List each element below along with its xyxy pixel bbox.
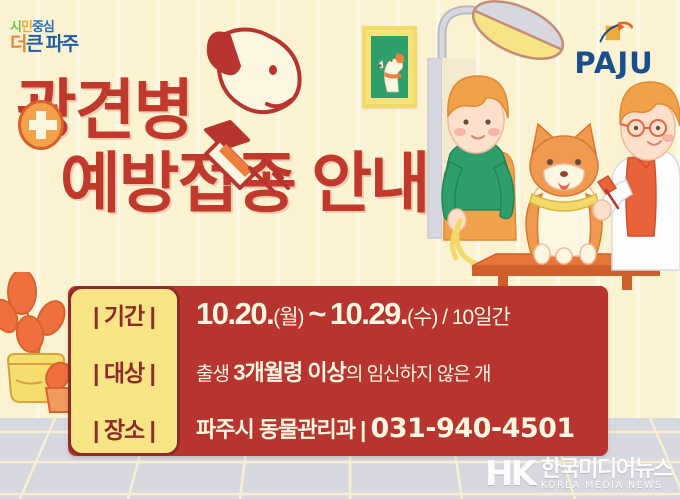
info-label-target: | 대상 |	[68, 354, 180, 388]
info-label-place: | 장소 |	[68, 411, 180, 445]
paju-city-slogan-logo: 시민중심 더큰 파주	[10, 20, 130, 68]
target-part-1: 출생	[196, 364, 233, 385]
slogan-line-2: 더큰 파주	[10, 35, 130, 54]
slogan-rest: 큰 파주	[26, 34, 78, 55]
date-end-day: (수)	[407, 306, 437, 329]
date-start: 10.20.	[196, 296, 273, 331]
date-start-day: (월)	[273, 306, 303, 329]
slogan-line-1: 시민중심	[10, 20, 130, 33]
watermark-logo-mark: HK	[485, 457, 534, 491]
rabies-vaccination-poster: 시민중심 더큰 파주 PAJU 광견병 예방접종 안내	[0, 0, 680, 499]
tilde-separator: ~	[308, 296, 325, 331]
info-value-period: 10.20.(월) ~ 10.29.(수) / 10일간	[180, 296, 608, 332]
vaccination-scene	[420, 58, 680, 290]
paju-flag-icon	[590, 18, 658, 48]
dog-owner-person	[442, 76, 516, 240]
place-name: 파주시 동물관리과	[196, 417, 355, 442]
medical-cross-icon	[18, 100, 64, 150]
shiba-dog	[526, 124, 602, 264]
watermark-english: KOREA MEDIA NEWS	[541, 481, 672, 491]
date-end: 10.29.	[330, 296, 407, 331]
info-value-place: 파주시 동물관리과 | 031-940-4501	[180, 412, 608, 444]
info-label-period: | 기간 |	[68, 297, 180, 331]
veterinarian-person	[593, 82, 680, 270]
syringe-icon	[190, 118, 310, 198]
info-row-target: | 대상 | 출생 3개월령 이상의 임신하지 않은 개	[68, 343, 608, 400]
duration-text: / 10일간	[442, 306, 510, 329]
slogan-prefix: 더	[10, 34, 26, 55]
info-box: | 기간 | 10.20.(월) ~ 10.29.(수) / 10일간 | 대상…	[68, 286, 608, 456]
watermark-text: 한국미디어뉴스 KOREA MEDIA NEWS	[541, 457, 672, 491]
info-row-place: | 장소 | 파주시 동물관리과 | 031-940-4501	[68, 399, 608, 456]
slogan-char-1: 시	[10, 19, 21, 34]
contact-phone: 031-940-4501	[370, 413, 574, 444]
info-row-period: | 기간 | 10.20.(월) ~ 10.29.(수) / 10일간	[68, 286, 608, 343]
watermark: HK 한국미디어뉴스 KOREA MEDIA NEWS	[485, 457, 672, 491]
target-part-2: 3개월령 이상	[233, 360, 346, 385]
info-rows: | 기간 | 10.20.(월) ~ 10.29.(수) / 10일간 | 대상…	[68, 286, 608, 456]
info-value-target: 출생 3개월령 이상의 임신하지 않은 개	[180, 355, 608, 387]
watermark-korean: 한국미디어뉴스	[541, 457, 672, 480]
target-part-3: 의 임신하지 않은 개	[346, 364, 491, 385]
slogan-char-3: 중심	[32, 19, 54, 34]
slogan-char-2: 민	[21, 19, 32, 34]
